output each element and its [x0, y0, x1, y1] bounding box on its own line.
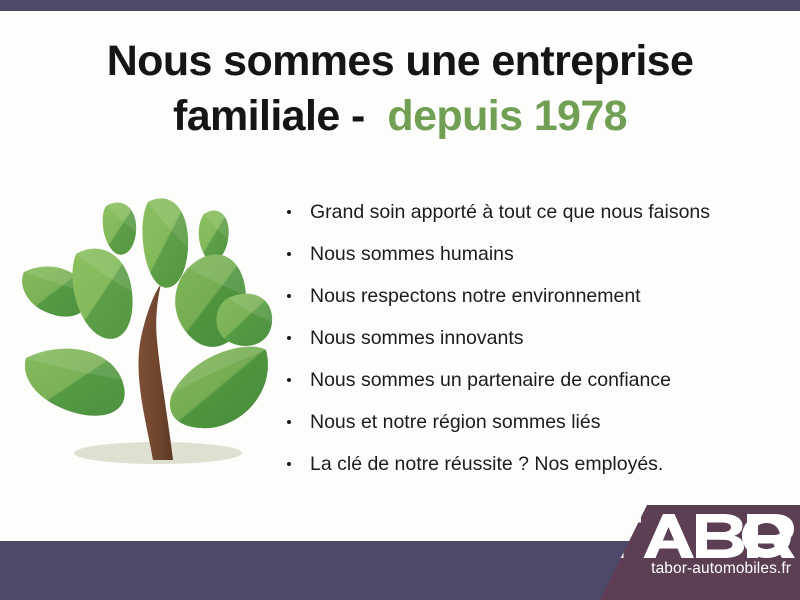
headline-line-2: familiale - depuis 1978 — [0, 89, 800, 144]
headline-plain-text: familiale - — [173, 92, 387, 140]
bullet-dot-icon — [287, 378, 291, 382]
list-item-label: La clé de notre réussite ? Nos employés. — [310, 453, 663, 475]
tree-trunk — [139, 284, 173, 460]
headline-accent-text: depuis 1978 — [387, 92, 627, 140]
tree-leaf-top-right — [199, 210, 229, 260]
tree-leaf-lower-left — [25, 349, 125, 416]
bullet-dot-icon — [287, 252, 291, 256]
headline-line-1: Nous sommes une entreprise — [0, 34, 800, 89]
list-item-label: Nous respectons notre environnement — [310, 285, 641, 307]
tree-leaf-lower-right — [170, 347, 268, 429]
tree-illustration — [18, 188, 274, 484]
list-item: Nous et notre région sommes liés — [284, 401, 784, 443]
tree-leaf-top-left — [103, 202, 137, 254]
tree-leaf-top-center — [142, 198, 188, 287]
list-item-label: Grand soin apporté à tout ce que nous fa… — [310, 201, 710, 223]
list-item-label: Nous sommes innovants — [310, 327, 524, 349]
list-item-label: Nous sommes un partenaire de confiance — [310, 369, 671, 391]
list-item: Nous sommes un partenaire de confiance — [284, 359, 784, 401]
value-list: Grand soin apporté à tout ce que nous fa… — [284, 191, 784, 485]
tree-leaf-upper-left — [72, 249, 132, 339]
list-item: Nous respectons notre environnement — [284, 275, 784, 317]
list-item: Nous sommes humains — [284, 233, 784, 275]
bullet-dot-icon — [287, 420, 291, 424]
page-title: Nous sommes une entreprise familiale - d… — [0, 34, 800, 144]
list-item: La clé de notre réussite ? Nos employés. — [284, 443, 784, 485]
list-item-label: Nous et notre région sommes liés — [310, 411, 600, 433]
tabor-wordmark — [595, 514, 795, 558]
list-item: Nous sommes innovants — [284, 317, 784, 359]
slide-canvas: Nous sommes une entreprise familiale - d… — [0, 0, 800, 600]
top-accent-bar — [0, 0, 800, 11]
bullet-dot-icon — [287, 336, 291, 340]
list-item-label: Nous sommes humains — [310, 243, 514, 265]
bullet-dot-icon — [287, 210, 291, 214]
tree-leaf-far-right — [216, 294, 272, 346]
list-item: Grand soin apporté à tout ce que nous fa… — [284, 191, 784, 233]
bullet-dot-icon — [287, 462, 291, 466]
bullet-dot-icon — [287, 294, 291, 298]
